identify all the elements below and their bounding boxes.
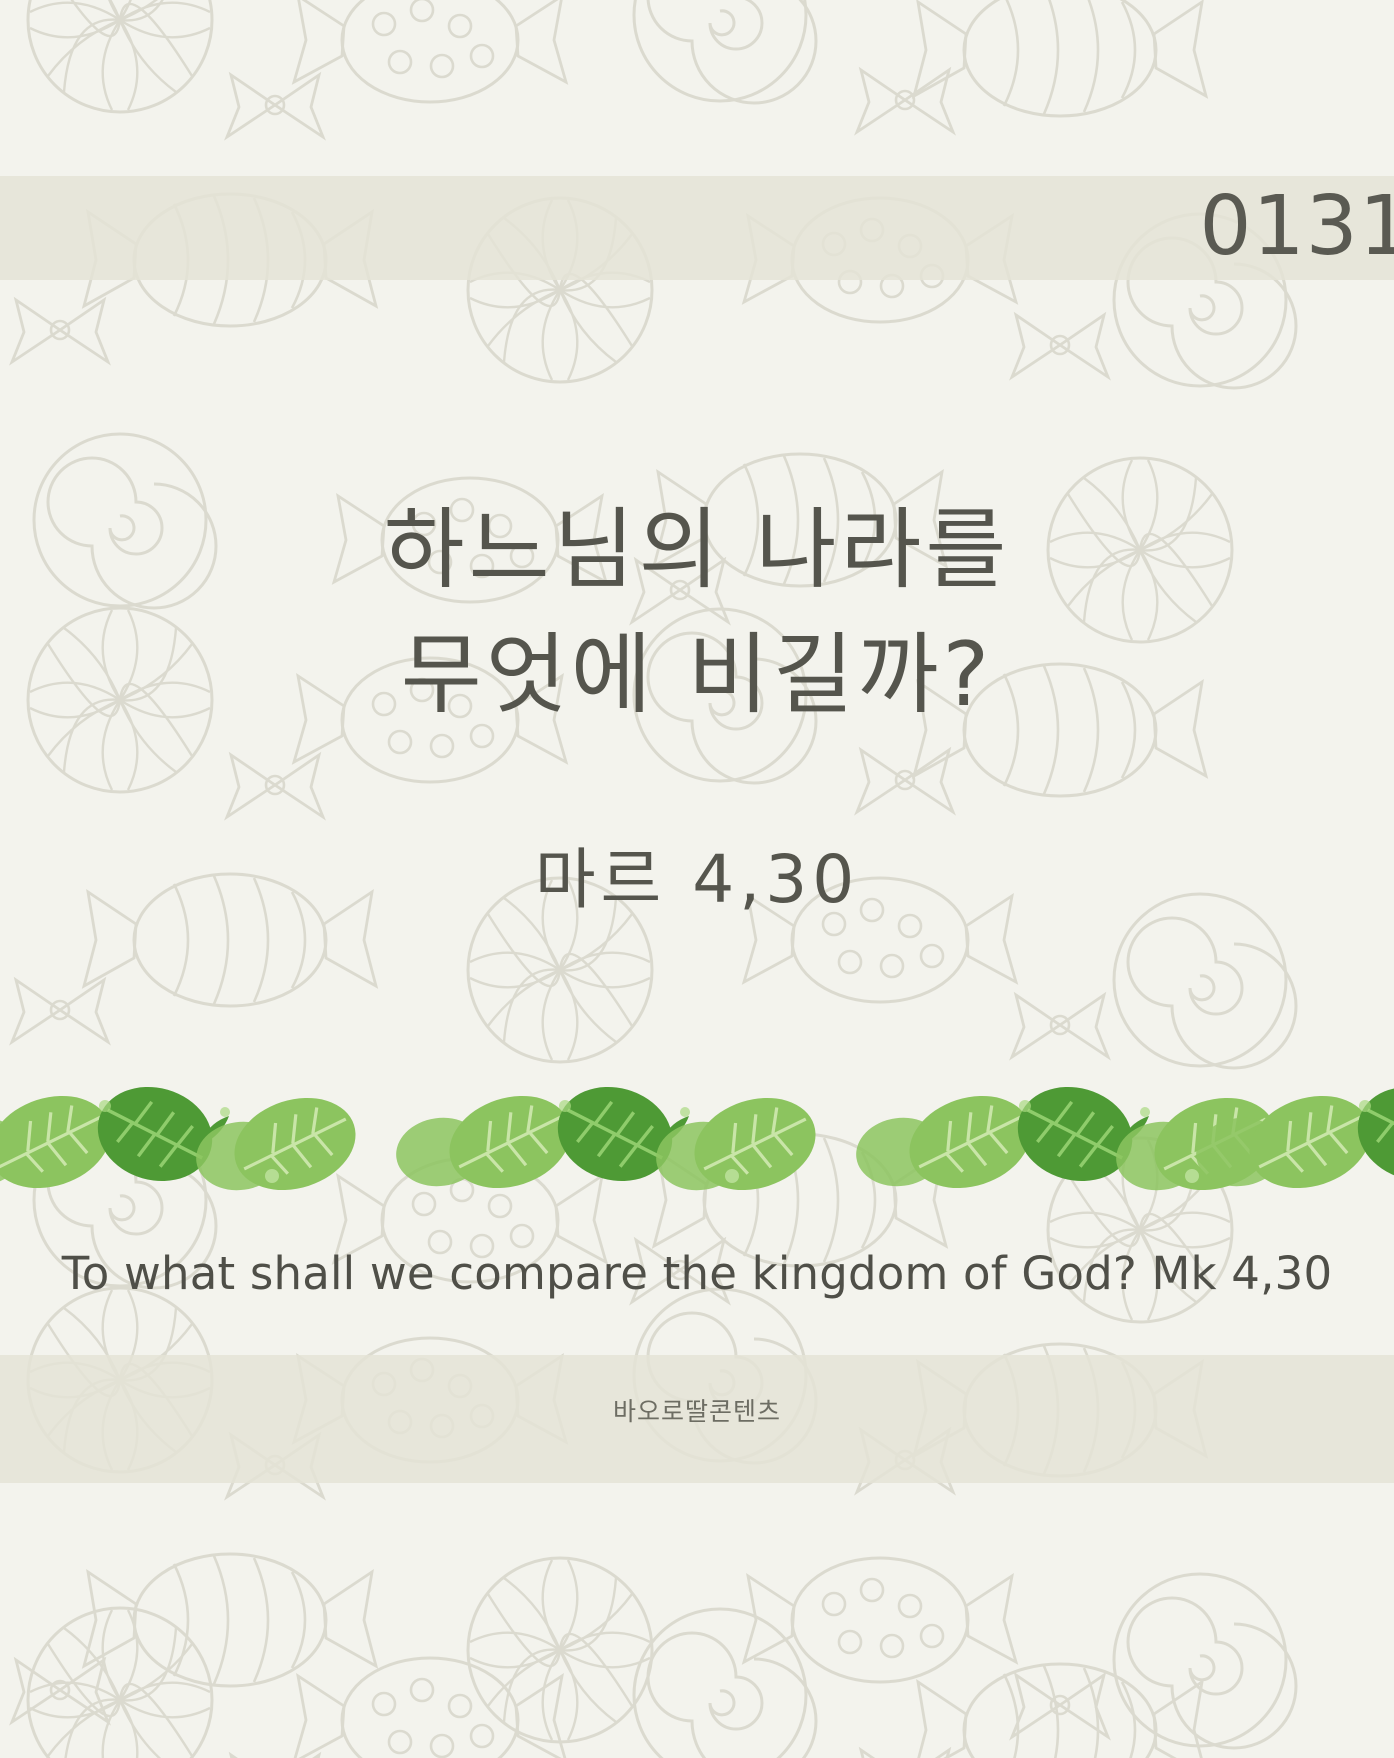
korean-verse: 하느님의 나라를 무엇에 비길까?: [0, 488, 1394, 738]
english-verse: To what shall we compare the kingdom of …: [0, 1247, 1394, 1300]
footer-brand: 바오로딸콘텐츠: [0, 1392, 1394, 1428]
korean-verse-reference: 마르 4,30: [0, 826, 1394, 922]
slide-number: 0131: [1199, 186, 1394, 268]
leaf-ribbon-icon: [0, 1072, 1394, 1198]
korean-verse-line-2: 무엇에 비길까?: [0, 613, 1394, 738]
korean-verse-line-1: 하느님의 나라를: [0, 488, 1394, 613]
scripture-card: 0131 하느님의 나라를 무엇에 비길까? 마르 4,30: [0, 0, 1394, 1758]
